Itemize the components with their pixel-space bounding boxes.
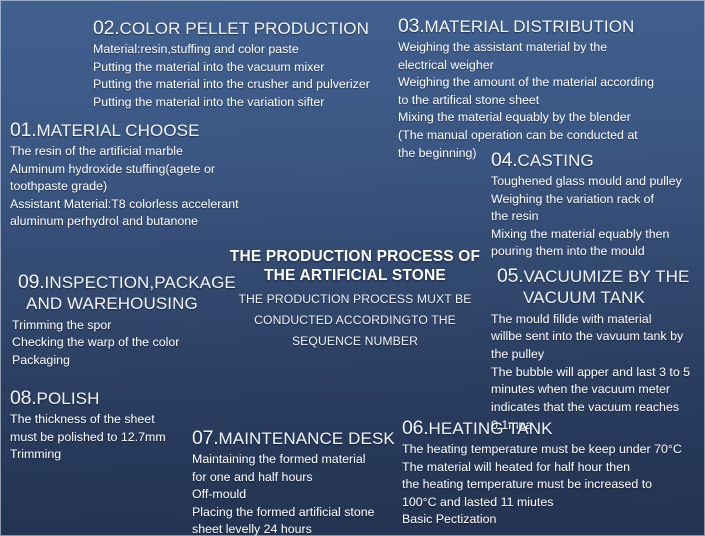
step-05-line-5: minutes when the vacuum meter — [491, 381, 690, 399]
step-05-title: VACUUMIZE BY THE — [524, 267, 690, 286]
step-03-line-2: electrical weigher — [398, 57, 654, 75]
step-04-line-4: Mixing the material equably then — [491, 226, 682, 244]
step-06-number: 06. — [402, 417, 429, 439]
step-04-title: CASTING — [518, 151, 594, 170]
step-05-heading: 05.VACUUMIZE BY THE VACUUM TANK — [497, 266, 690, 307]
step-01-line-1: The resin of the artificial marble — [10, 143, 239, 161]
step-02-line-3: Putting the material into the crusher an… — [93, 76, 370, 94]
step-08-line-2: must be polished to 12.7mm — [10, 429, 166, 447]
center-title-line-1: THE PRODUCTION PROCESS OF — [205, 248, 505, 267]
step-07-line-5: sheet levelly 24 hours — [192, 521, 395, 536]
step-01-heading: 01.MATERIAL CHOOSE — [10, 120, 239, 141]
step-05-line-3: the pulley — [491, 346, 690, 364]
step-02-title: COLOR PELLET PRODUCTION — [120, 19, 369, 38]
process-step-07: 07.MAINTENANCE DESK Maintaining the form… — [192, 428, 395, 536]
process-step-03: 03.MATERIAL DISTRIBUTION Weighing the as… — [398, 16, 654, 162]
center-subtitle-line-3: SEQUENCE NUMBER — [205, 333, 505, 349]
step-07-body: Maintaining the formed material for one … — [192, 451, 395, 536]
process-step-09: 09.INSPECTION,PACKAGE AND WAREHOUSING Tr… — [18, 272, 236, 370]
step-05-body: The mould fillde with material willbe se… — [491, 311, 690, 434]
step-02-heading: 02.COLOR PELLET PRODUCTION — [93, 18, 370, 39]
step-08-line-3: Trimming — [10, 446, 166, 464]
step-04-body: Toughened glass mould and pulley Weighin… — [491, 173, 682, 261]
step-04-line-2: Weighing the variation rack of — [491, 191, 682, 209]
process-step-06: 06.HEATING TANK The heating temperature … — [402, 418, 682, 529]
step-07-heading: 07.MAINTENANCE DESK — [192, 428, 395, 449]
process-step-05: 05.VACUUMIZE BY THE VACUUM TANK The moul… — [497, 266, 690, 434]
step-09-line-1: Trimming the spor — [12, 317, 236, 335]
step-06-line-2: The material will heated for half hour t… — [402, 459, 682, 477]
step-08-number: 08. — [10, 387, 37, 409]
step-05-line-6: indicates that the vacuum reaches — [491, 399, 690, 417]
step-01-line-5: aluminum perhydrol and butanone — [10, 213, 239, 231]
step-08-title: POLISH — [37, 389, 100, 408]
step-09-line-2: Checking the warp of the color — [12, 334, 236, 352]
step-06-heading: 06.HEATING TANK — [402, 418, 682, 439]
step-06-title: HEATING TANK — [429, 419, 553, 438]
center-subtitle-line-2: CONDUCTED ACCORDINGTO THE — [205, 312, 505, 328]
step-02-line-1: Material:resin,stuffing and color paste — [93, 41, 370, 59]
step-03-body: Weighing the assistant material by the e… — [398, 39, 654, 162]
step-05-line-2: willbe sent into the vavuum tank by — [491, 328, 690, 346]
step-07-line-3: Off-mould — [192, 486, 395, 504]
step-08-heading: 08.POLISH — [10, 388, 166, 409]
step-03-line-5: Mixing the material equably by the blend… — [398, 109, 654, 127]
process-step-02: 02.COLOR PELLET PRODUCTION Material:resi… — [93, 18, 370, 111]
step-01-title: MATERIAL CHOOSE — [37, 121, 200, 140]
step-02-line-2: Putting the material into the vacuum mix… — [93, 59, 370, 77]
step-01-line-3: toothpaste grade) — [10, 178, 239, 196]
step-03-line-4: to the artifical stone sheet — [398, 92, 654, 110]
slide-center-title: THE PRODUCTION PROCESS OF THE ARTIFICIAL… — [205, 248, 505, 349]
step-04-number: 04. — [491, 149, 518, 171]
step-03-line-1: Weighing the assistant material by the — [398, 39, 654, 57]
step-03-heading: 03.MATERIAL DISTRIBUTION — [398, 16, 654, 37]
step-07-line-2: for one and half hours — [192, 469, 395, 487]
step-07-title: MAINTENANCE DESK — [219, 429, 395, 448]
step-04-line-1: Toughened glass mould and pulley — [491, 173, 682, 191]
step-03-number: 03. — [398, 15, 425, 37]
step-09-body: Trimming the spor Checking the warp of t… — [12, 317, 236, 370]
step-05-title-line-2: VACUUM TANK — [497, 288, 690, 307]
step-01-number: 01. — [10, 119, 37, 141]
process-step-04: 04.CASTING Toughened glass mould and pul… — [491, 150, 682, 261]
step-06-line-5: Basic Pectization — [402, 511, 682, 529]
step-02-line-4: Putting the material into the variation … — [93, 94, 370, 112]
step-05-line-1: The mould fillde with material — [491, 311, 690, 329]
step-09-line-3: Packaging — [12, 352, 236, 370]
step-06-body: The heating temperature must be keep und… — [402, 441, 682, 529]
step-01-line-2: Aluminum hydroxide stuffing(agete or — [10, 161, 239, 179]
step-06-line-1: The heating temperature must be keep und… — [402, 441, 682, 459]
step-09-number: 09. — [18, 271, 45, 293]
step-09-heading: 09.INSPECTION,PACKAGE AND WAREHOUSING — [18, 272, 236, 313]
step-06-line-4: 100°C and lasted 11 miutes — [402, 494, 682, 512]
step-08-body: The thickness of the sheet must be polis… — [10, 411, 166, 464]
step-02-body: Material:resin,stuffing and color paste … — [93, 41, 370, 111]
step-04-line-3: the resin — [491, 208, 682, 226]
step-03-title: MATERIAL DISTRIBUTION — [425, 17, 635, 36]
step-03-line-3: Weighing the amount of the material acco… — [398, 74, 654, 92]
step-02-number: 02. — [93, 17, 120, 39]
step-01-body: The resin of the artificial marble Alumi… — [10, 143, 239, 231]
process-step-01: 01.MATERIAL CHOOSE The resin of the arti… — [10, 120, 239, 231]
step-04-line-5: pouring them into the mould — [491, 243, 682, 261]
step-08-line-1: The thickness of the sheet — [10, 411, 166, 429]
step-04-heading: 04.CASTING — [491, 150, 682, 171]
center-title-line-2: THE ARTIFICIAL STONE — [205, 267, 505, 286]
center-subtitle-line-1: THE PRODUCTION PROCESS MUXT BE — [205, 291, 505, 307]
step-09-title-line-2: AND WAREHOUSING — [18, 294, 236, 313]
step-01-line-4: Assistant Material:T8 colorless accelera… — [10, 196, 239, 214]
process-step-08: 08.POLISH The thickness of the sheet mus… — [10, 388, 166, 464]
step-03-line-6: (The manual operation can be conducted a… — [398, 127, 654, 145]
step-05-line-4: The bubble will apper and last 3 to 5 — [491, 364, 690, 382]
step-07-line-1: Maintaining the formed material — [192, 451, 395, 469]
step-06-line-3: the heating temperature must be increase… — [402, 476, 682, 494]
presentation-slide: 01.MATERIAL CHOOSE The resin of the arti… — [0, 0, 705, 536]
step-07-number: 07. — [192, 427, 219, 449]
step-07-line-4: Placing the formed artificial stone — [192, 504, 395, 522]
